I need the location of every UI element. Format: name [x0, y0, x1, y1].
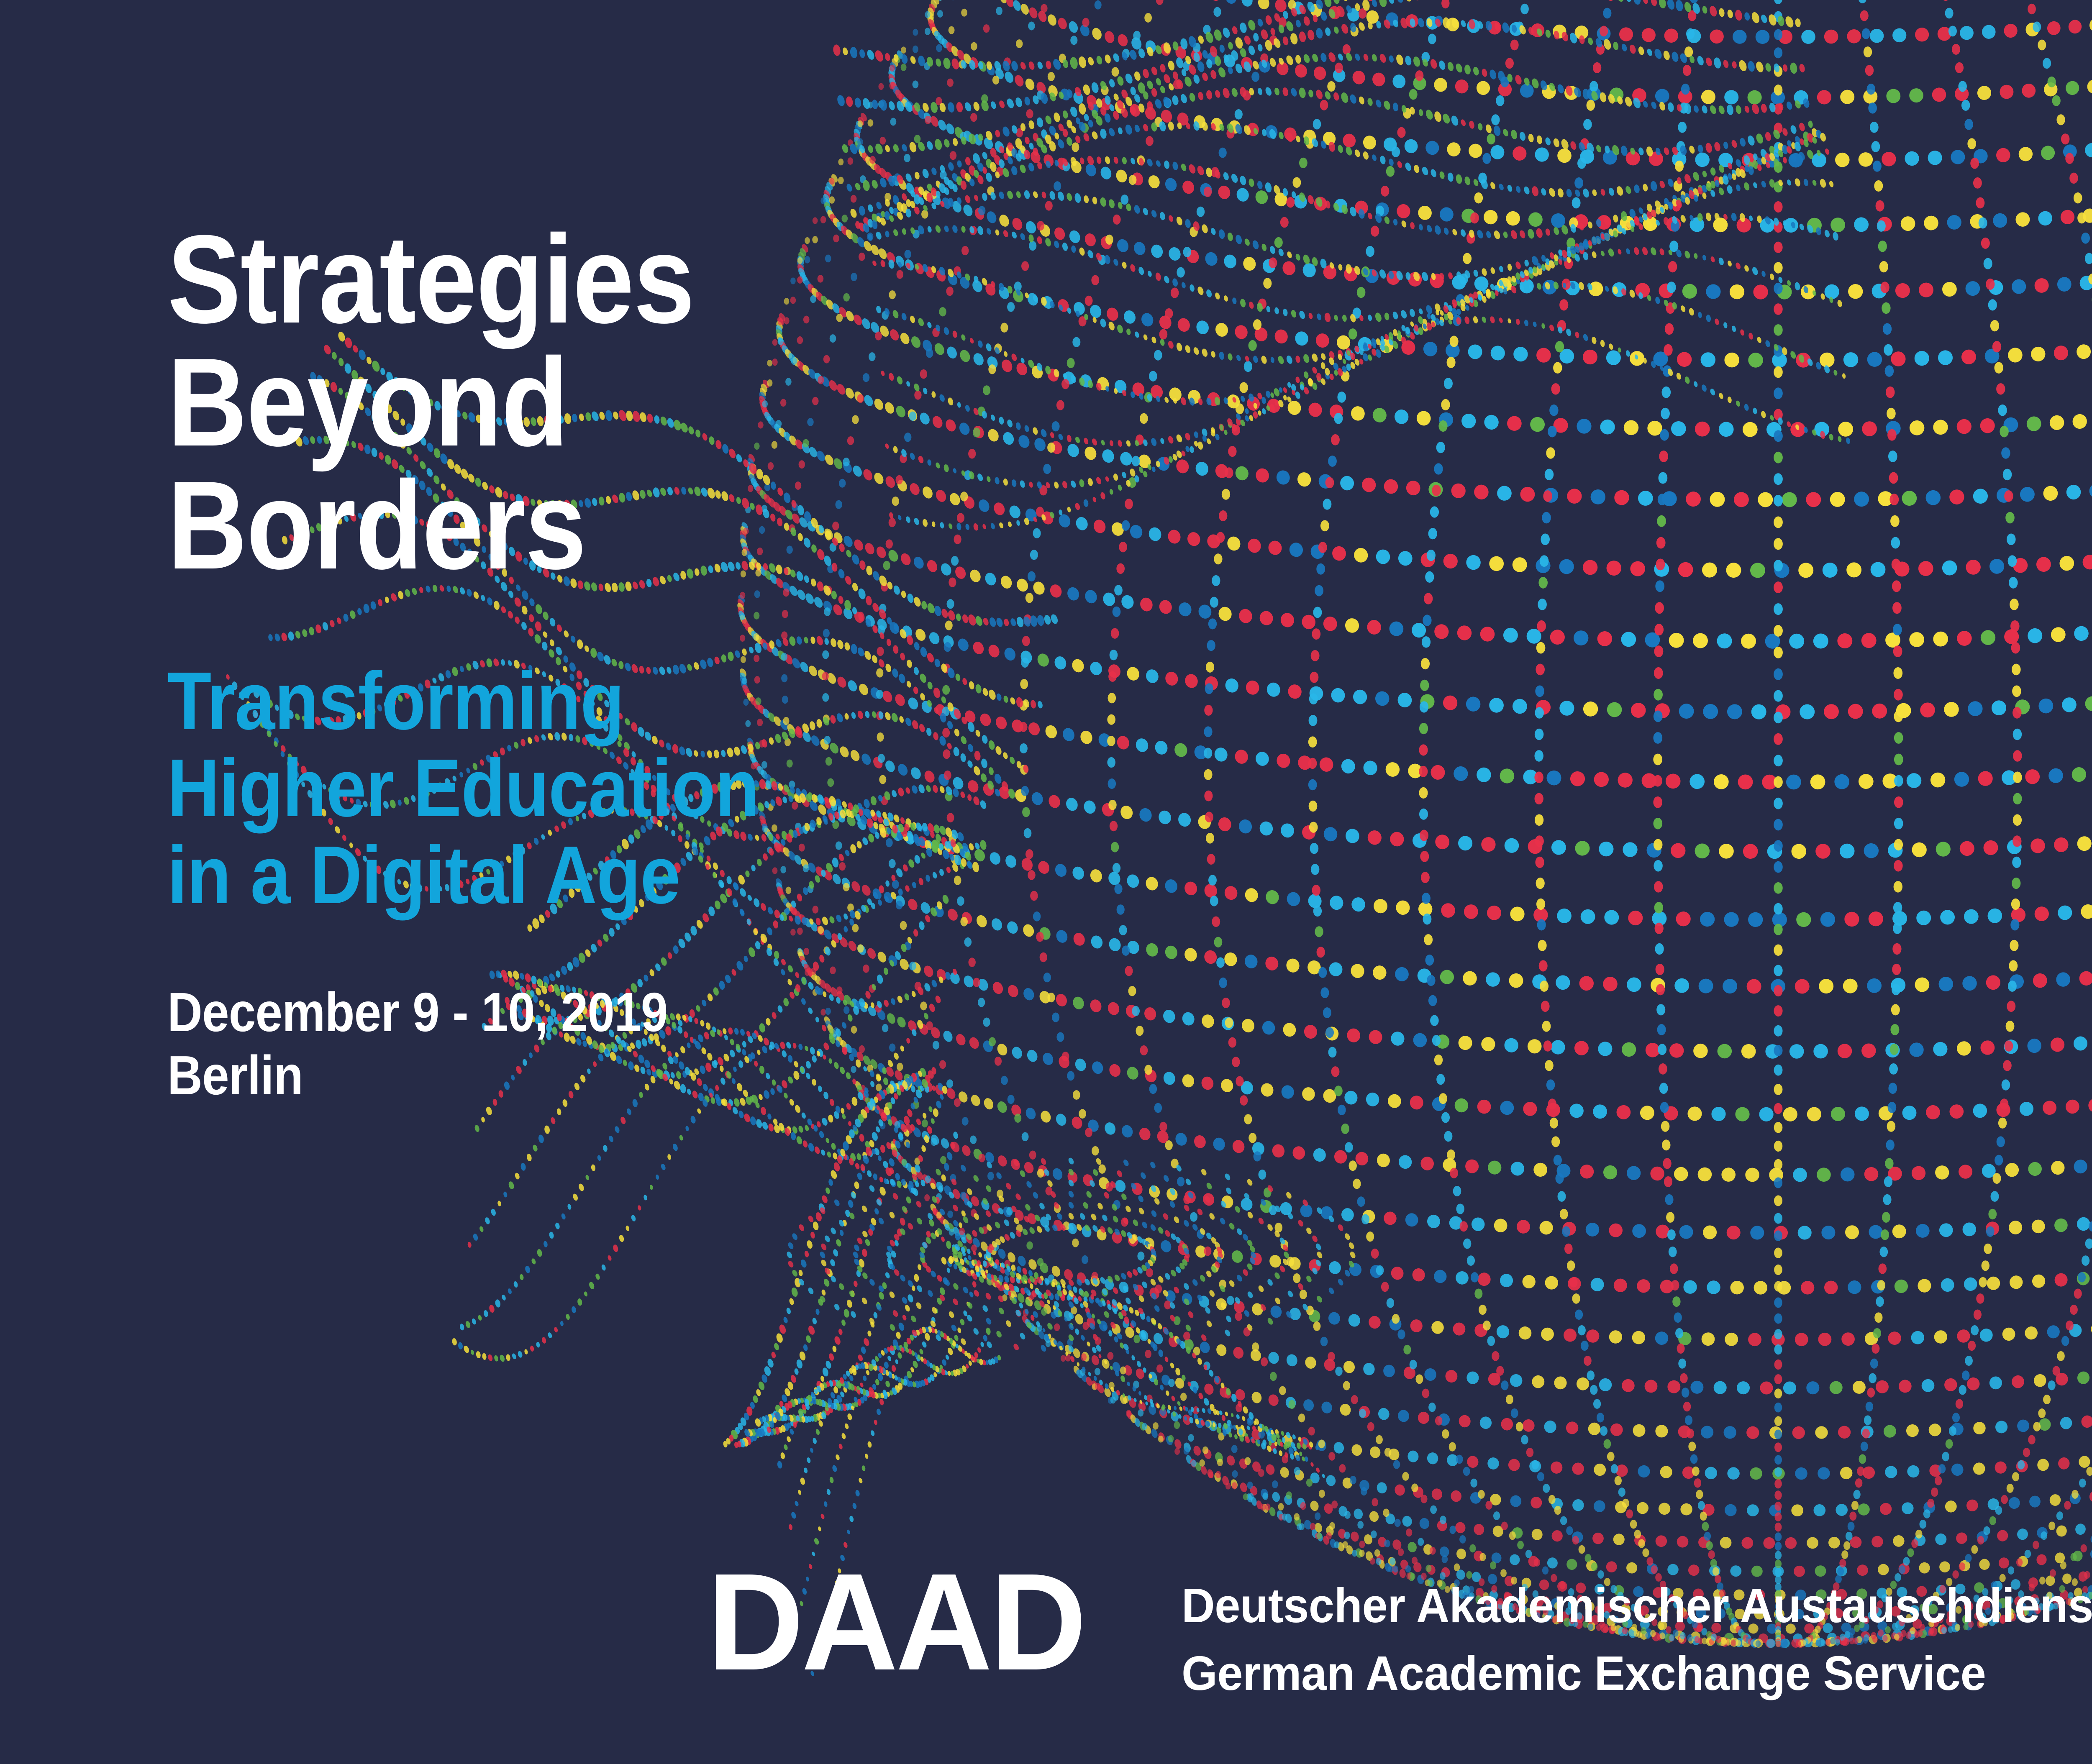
event-meta: December 9 - 10, 2019 Berlin: [167, 981, 1051, 1107]
title-line-2: Beyond: [167, 341, 1051, 463]
event-subtitle: Transforming Higher Education in a Digit…: [167, 658, 1051, 918]
subtitle-line-1: Transforming: [167, 658, 1051, 745]
subtitle-line-3: in a Digital Age: [167, 832, 1051, 919]
daad-strapline-en: German Academic Exchange Service: [1182, 1639, 2092, 1707]
page-title: Strategies Beyond Borders: [167, 218, 1051, 586]
conference-banner: Strategies Beyond Borders Transforming H…: [0, 0, 2092, 1764]
daad-wordmark: DAAD: [707, 1562, 1084, 1681]
daad-strapline: Deutscher Akademischer Austauschdienst G…: [1182, 1572, 2092, 1708]
daad-strapline-de: Deutscher Akademischer Austauschdienst: [1182, 1572, 2092, 1639]
event-location: Berlin: [167, 1044, 1051, 1107]
event-date: December 9 - 10, 2019: [167, 981, 1051, 1044]
daad-logo-lockup: DAAD Deutscher Akademischer Austauschdie…: [707, 1562, 2092, 1708]
title-line-1: Strategies: [167, 218, 1051, 341]
title-line-3: Borders: [167, 463, 1051, 586]
subtitle-line-2: Higher Education: [167, 745, 1051, 832]
event-text-block: Strategies Beyond Borders Transforming H…: [167, 218, 1172, 1107]
